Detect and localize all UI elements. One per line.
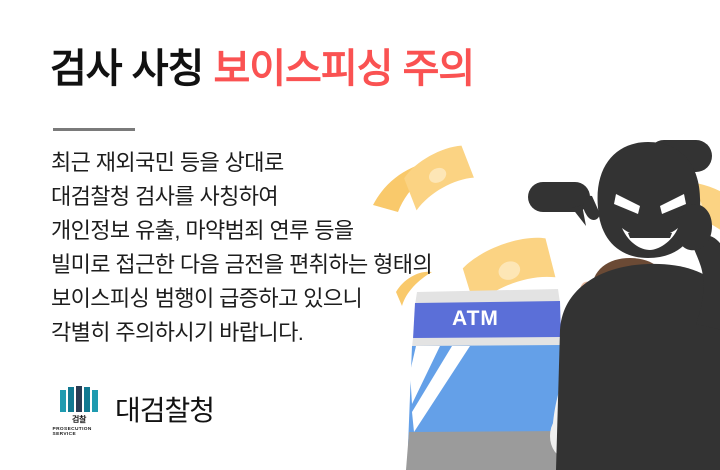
page-title: 검사 사칭 보이스피싱 주의 — [50, 46, 474, 92]
atm-body — [408, 345, 567, 446]
headline-black-part: 검사 사칭 — [50, 47, 203, 91]
woman-eye-right — [637, 295, 647, 305]
scammer-grin — [622, 228, 678, 250]
woman-mouth — [622, 317, 634, 333]
logo-wordmark: 대검찰청 — [115, 397, 214, 425]
logo-bar — [84, 387, 90, 412]
woman-hand-left — [580, 280, 613, 326]
scammer-ear — [583, 196, 600, 220]
atm-glare — [410, 346, 470, 432]
scammer-silhouette — [556, 142, 720, 470]
logo-bars-icon — [60, 386, 98, 412]
worried-woman-figure — [550, 258, 699, 470]
voice-phishing-warning-poster: 검사 사칭 보이스피싱 주의 최근 재외국민 등을 상대로 대검찰청 검사를 사… — [0, 0, 720, 470]
body-line: 각별히 주의하시기 바랍니다. — [51, 316, 432, 350]
woman-sleeve-left — [552, 353, 602, 448]
atm-base — [406, 431, 568, 470]
logo-english-text: PROSECUTION SERVICE — [53, 426, 106, 436]
scammer-teeth-line — [628, 233, 672, 238]
money-bill-icon — [655, 175, 720, 232]
money-bill-oval — [683, 196, 704, 214]
woman-shirt — [566, 350, 692, 470]
logo-bar — [60, 390, 66, 412]
body-line: 최근 재외국민 등을 상대로 — [51, 146, 432, 180]
logo-mark: 검찰 PROSECUTION SERVICE — [56, 386, 102, 436]
scammer-eye-left — [614, 194, 640, 214]
logo-korean-text: 검찰 — [72, 414, 86, 425]
body-line: 빌미로 접근한 다음 금전을 편취하는 형태의 — [51, 248, 432, 282]
scammer-body — [556, 264, 720, 470]
money-bill-icon — [458, 230, 559, 307]
woman-eye-left — [609, 295, 619, 305]
woman-hand-right — [648, 281, 679, 325]
woman-hair-back — [582, 272, 678, 372]
body-line: 보이스피싱 범행이 급증하고 있으니 — [51, 282, 432, 316]
money-bill-oval — [496, 258, 523, 282]
logo-bar — [68, 387, 74, 412]
scammer-hand — [677, 204, 713, 250]
woman-apron-pocket — [596, 410, 668, 454]
body-text: 최근 재외국민 등을 상대로 대검찰청 검사를 사칭하여 개인정보 유출, 마약… — [51, 146, 432, 350]
speech-bubble-right — [648, 140, 712, 188]
woman-neck — [612, 340, 646, 368]
atm-top-panel — [415, 289, 560, 305]
speech-bubble-left — [528, 182, 590, 226]
prosecution-service-logo: 검찰 PROSECUTION SERVICE 대검찰청 — [56, 386, 214, 436]
headline-red-part: 보이스피싱 주의 — [213, 47, 474, 91]
logo-bar — [76, 386, 82, 412]
title-divider — [53, 128, 135, 131]
woman-face — [594, 262, 666, 344]
body-line: 개인정보 유출, 마약범죄 연루 등을 — [51, 214, 432, 248]
woman-hair-fringe — [591, 258, 670, 300]
woman-hand-end-left — [550, 414, 582, 458]
woman-apron — [578, 366, 684, 470]
woman-hand-end-right — [665, 410, 699, 458]
atm-label: ATM — [452, 307, 499, 331]
body-line: 대검찰청 검사를 사칭하여 — [51, 180, 432, 214]
atm-strip — [412, 337, 561, 347]
scammer-eye-right — [660, 194, 686, 214]
woman-apron-bib — [608, 366, 652, 392]
scammer-arm — [693, 235, 720, 330]
logo-bar — [92, 390, 98, 412]
scammer-head — [598, 142, 701, 258]
woman-sleeve-right — [656, 353, 694, 452]
